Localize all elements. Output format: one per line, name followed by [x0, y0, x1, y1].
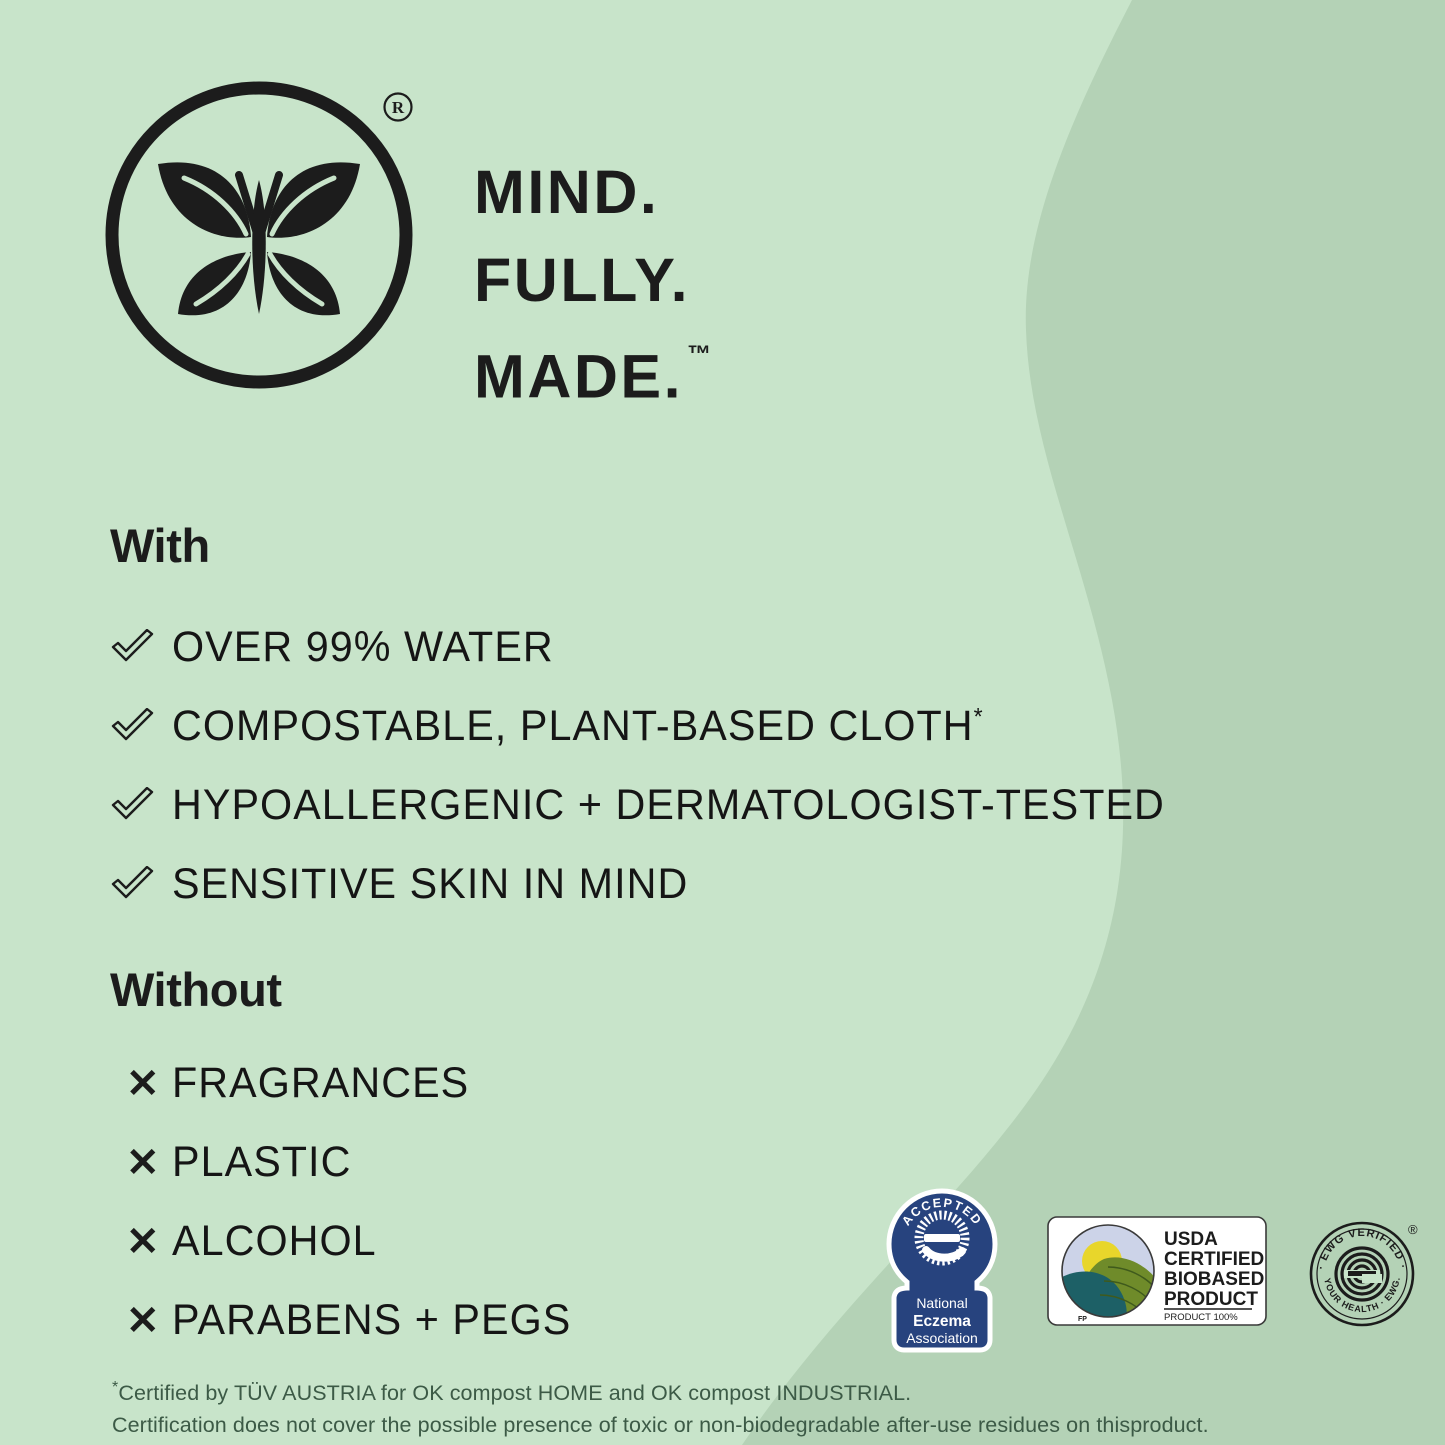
nea-line-1: National	[916, 1295, 967, 1311]
with-claims-list: OVER 99% WATER COMPOSTABLE, PLANT-BASED …	[110, 608, 1206, 924]
usda-subtext: PRODUCT 100%	[1164, 1312, 1238, 1323]
list-item: ✕ PARABENS + PEGS	[110, 1281, 588, 1360]
list-item: OVER 99% WATER	[110, 608, 1206, 687]
wordmark: MIND. FULLY. MADE.™	[474, 66, 794, 329]
ewg-registered-symbol: ®	[1408, 1222, 1418, 1237]
footnote-line-1: *Certified by TÜV AUSTRIA for OK compost…	[112, 1372, 1292, 1409]
list-item-label: ALCOHOL	[172, 1217, 377, 1266]
footnote: *Certified by TÜV AUSTRIA for OK compost…	[112, 1372, 1292, 1441]
checkmark-outline-icon	[110, 787, 172, 825]
without-claims-list: ✕ FRAGRANCES ✕ PLASTIC ✕ ALCOHOL ✕ PARAB…	[110, 1044, 588, 1360]
usda-line-1: USDA	[1164, 1229, 1218, 1250]
trademark-symbol: ™	[687, 341, 711, 368]
list-item: COMPOSTABLE, PLANT-BASED CLOTH*	[110, 687, 1206, 766]
wordmark-line-2: FULLY.	[474, 238, 794, 323]
x-mark-icon: ✕	[110, 1143, 172, 1183]
without-heading: Without	[110, 962, 282, 1017]
nea-line-3: Association	[906, 1330, 978, 1346]
list-item-label: HYPOALLERGENIC + DERMATOLOGIST-TESTED	[172, 781, 1165, 830]
brand-logo: R MIND. FULLY. MADE.™	[96, 72, 796, 402]
list-item-label: FRAGRANCES	[172, 1059, 469, 1108]
usda-line-4: PRODUCT	[1164, 1289, 1258, 1310]
butterfly-in-circle-icon	[96, 72, 422, 398]
usda-corner-label: FP	[1078, 1316, 1087, 1323]
usda-certified-biobased-product-badge: FP USDA CERTIFIED BIOBASED PRODUCT PRODU…	[1046, 1215, 1268, 1327]
list-item: HYPOALLERGENIC + DERMATOLOGIST-TESTED	[110, 766, 1206, 845]
list-item-label: PLASTIC	[172, 1138, 351, 1187]
certification-badges: ACCEPTED National Eczema Association	[876, 1188, 1426, 1354]
footnote-line-2: Certification does not cover the possibl…	[112, 1409, 1292, 1441]
list-item: SENSITIVE SKIN IN MIND	[110, 845, 1206, 924]
national-eczema-association-badge: ACCEPTED National Eczema Association	[876, 1188, 1008, 1354]
checkmark-outline-icon	[110, 629, 172, 667]
list-item-label: COMPOSTABLE, PLANT-BASED CLOTH*	[172, 702, 983, 751]
wordmark-line-1: MIND.	[474, 150, 794, 235]
usda-line-2: CERTIFIED	[1164, 1249, 1264, 1270]
checkmark-outline-icon	[110, 708, 172, 746]
svg-text:R: R	[392, 98, 405, 117]
list-item-label: PARABENS + PEGS	[172, 1296, 571, 1345]
wordmark-line-3-text: MADE.	[474, 342, 683, 410]
list-item-label: SENSITIVE SKIN IN MIND	[172, 860, 688, 909]
checkmark-outline-icon	[110, 866, 172, 904]
ewg-verified-badge: · EWG VERIFIED · · FOR YOUR HEALTH · EWG…	[1304, 1210, 1426, 1332]
registered-trademark-icon: R	[381, 90, 415, 124]
product-claims-panel: R MIND. FULLY. MADE.™ With OVER 99% WATE…	[0, 0, 1445, 1445]
list-item: ✕ PLASTIC	[110, 1123, 588, 1202]
wordmark-line-3: MADE.™	[474, 326, 794, 419]
x-mark-icon: ✕	[110, 1222, 172, 1262]
list-item-label: OVER 99% WATER	[172, 623, 554, 672]
list-item: ✕ FRAGRANCES	[110, 1044, 588, 1123]
list-item: ✕ ALCOHOL	[110, 1202, 588, 1281]
with-heading: With	[110, 518, 210, 573]
nea-line-2: Eczema	[913, 1313, 971, 1330]
usda-line-3: BIOBASED	[1164, 1269, 1264, 1290]
x-mark-icon: ✕	[110, 1301, 172, 1341]
x-mark-icon: ✕	[110, 1064, 172, 1104]
